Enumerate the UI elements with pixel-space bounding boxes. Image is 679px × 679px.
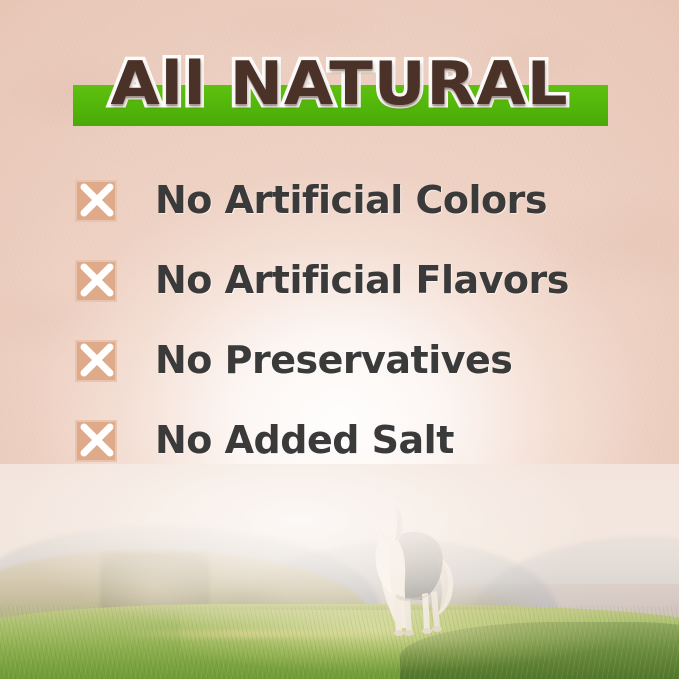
list-item: No Preservatives <box>75 336 635 416</box>
x-mark-icon <box>75 340 117 382</box>
claims-list: No Artificial Colors No Artificial Flavo… <box>75 176 635 496</box>
claim-label: No Added Salt <box>155 410 454 470</box>
product-feature-card: All NATURAL All NATURAL No Artificial Co… <box>0 0 679 679</box>
claim-label: No Artificial Flavors <box>155 250 569 310</box>
list-item: No Artificial Colors <box>75 176 635 256</box>
x-mark-icon <box>75 420 117 462</box>
list-item: No Artificial Flavors <box>75 256 635 336</box>
claim-label: No Artificial Colors <box>155 170 547 230</box>
headline-banner: All NATURAL All NATURAL <box>0 48 679 140</box>
list-item: No Added Salt <box>75 416 635 496</box>
lifestyle-photo <box>0 464 679 679</box>
claim-label: No Preservatives <box>155 330 512 390</box>
photo-sun-wash <box>0 464 679 679</box>
x-mark-icon <box>75 260 117 302</box>
headline-text-outline: All NATURAL <box>0 48 679 120</box>
x-mark-icon <box>75 180 117 222</box>
